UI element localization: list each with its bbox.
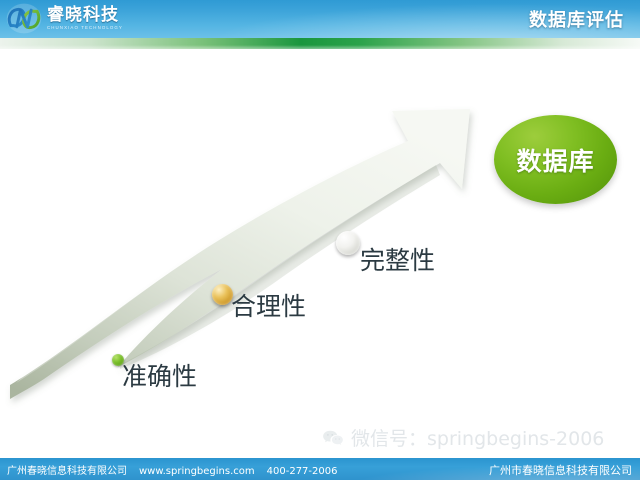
diagram-stage: 准确性 合理性 完整性 [0, 49, 640, 429]
goal-label: 数据库 [516, 142, 594, 178]
page-title: 数据库评估 [529, 6, 624, 32]
swoosh-arrow-graphic [0, 49, 640, 429]
company-logo: 睿晓科技 CHUNXIAO TECHNOLOGY [6, 3, 123, 34]
milestone-label-completeness: 完整性 [360, 241, 435, 277]
footer-company: 广州春晓信息科技有限公司 [7, 462, 127, 477]
footer-right-company: 广州市春晓信息科技有限公司 [489, 462, 632, 478]
goal-bubble: 数据库 [494, 115, 617, 204]
gold-bead-marker [212, 284, 233, 305]
milestone-label-accuracy: 准确性 [122, 357, 197, 393]
footer-left-group: 广州春晓信息科技有限公司 www.springbegins.com 400-27… [7, 462, 337, 477]
logo-company-cn: 睿晓科技 [47, 7, 123, 24]
slide-header: 睿晓科技 CHUNXIAO TECHNOLOGY 数据库评估 [0, 0, 640, 38]
slide-canvas: 睿晓科技 CHUNXIAO TECHNOLOGY 数据库评估 [0, 0, 640, 480]
logo-text-block: 睿晓科技 CHUNXIAO TECHNOLOGY [47, 7, 123, 30]
logo-company-en: CHUNXIAO TECHNOLOGY [47, 26, 123, 30]
footer-phone: 400-277-2006 [267, 466, 338, 477]
silver-bead-marker [336, 231, 360, 255]
ruixiao-infinity-logo-icon [6, 3, 42, 34]
watermark-text: 微信号：springbegins-2006 [351, 424, 604, 451]
wechat-watermark: 微信号：springbegins-2006 [322, 424, 604, 451]
slide-footer: 广州春晓信息科技有限公司 www.springbegins.com 400-27… [0, 458, 640, 480]
wechat-icon [322, 429, 344, 447]
milestone-label-rationality: 合理性 [231, 287, 306, 323]
footer-website[interactable]: www.springbegins.com [139, 466, 255, 477]
